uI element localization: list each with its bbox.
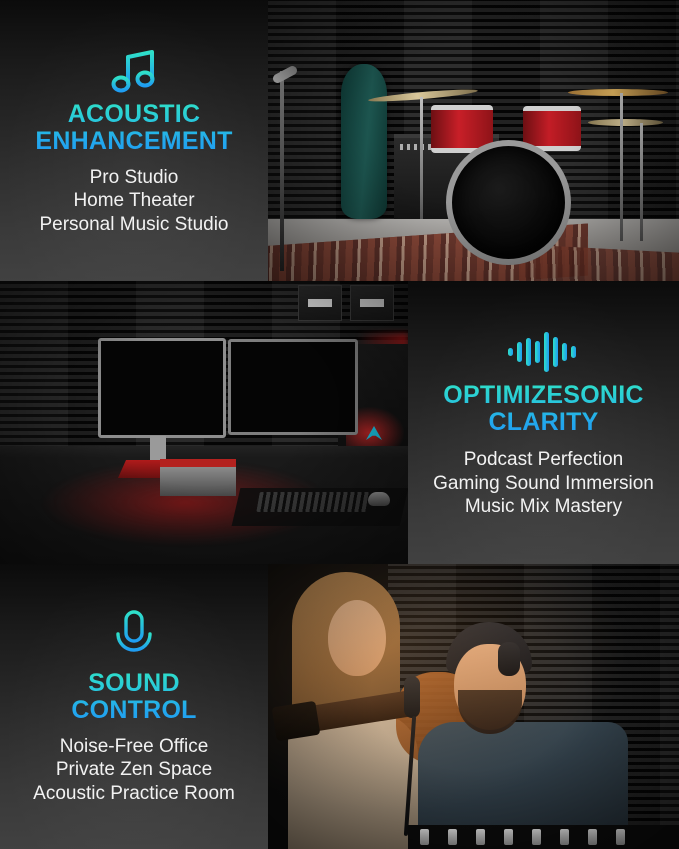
panel-title-line-2: ENHANCEMENT xyxy=(0,128,268,155)
feature-list-optimizesonic-clarity: Podcast Perfection Gaming Sound Immersio… xyxy=(408,448,679,519)
microphone-icon xyxy=(112,610,156,664)
feature-row-acoustic-enhancement: ACOUSTIC ENHANCEMENT Pro Studio Home The… xyxy=(0,0,679,281)
panel-title-acoustic-enhancement: ACOUSTIC ENHANCEMENT xyxy=(0,101,268,155)
feature-item: Podcast Perfection xyxy=(408,448,679,472)
musicians-recording-photo xyxy=(268,564,679,849)
feature-item: Private Zen Space xyxy=(0,758,268,782)
music-note-icon-wrap xyxy=(0,45,268,95)
panel-title-line-1: ACOUSTIC xyxy=(0,101,268,128)
feature-item: Pro Studio xyxy=(0,166,268,190)
feature-row-optimizesonic-clarity: OPTIMIZESONIC CLARITY Podcast Perfection… xyxy=(0,281,679,564)
microphone-icon-wrap xyxy=(0,608,268,664)
photo-vignette xyxy=(0,281,408,564)
feature-item: Home Theater xyxy=(0,189,268,213)
panel-title-line-2: CLARITY xyxy=(408,409,679,436)
text-panel-sound-control: SOUND CONTROL Noise-Free Office Private … xyxy=(0,564,268,849)
panel-title-line-2: CONTROL xyxy=(0,697,268,724)
feature-item: Gaming Sound Immersion xyxy=(408,472,679,496)
panel-title-sound-control: SOUND CONTROL xyxy=(0,670,268,724)
drum-kit-studio-photo xyxy=(268,0,679,281)
feature-item: Personal Music Studio xyxy=(0,213,268,237)
feature-item: Music Mix Mastery xyxy=(408,495,679,519)
sound-wave-icon-wrap xyxy=(408,326,679,372)
music-note-icon xyxy=(108,49,160,95)
sound-wave-icon xyxy=(507,332,581,372)
feature-list-acoustic-enhancement: Pro Studio Home Theater Personal Music S… xyxy=(0,166,268,237)
gaming-desk-setup-photo xyxy=(0,281,408,564)
panel-title-line-1: SOUND xyxy=(0,670,268,697)
panel-title-optimizesonic-clarity: OPTIMIZESONIC CLARITY xyxy=(408,382,679,436)
feature-item: Acoustic Practice Room xyxy=(0,782,268,806)
product-feature-board: ACOUSTIC ENHANCEMENT Pro Studio Home The… xyxy=(0,0,679,849)
text-panel-optimizesonic-clarity: OPTIMIZESONIC CLARITY Podcast Perfection… xyxy=(408,281,679,564)
feature-list-sound-control: Noise-Free Office Private Zen Space Acou… xyxy=(0,735,268,806)
text-panel-acoustic-enhancement: ACOUSTIC ENHANCEMENT Pro Studio Home The… xyxy=(0,0,268,281)
photo-vignette xyxy=(268,0,679,281)
feature-item: Noise-Free Office xyxy=(0,735,268,759)
photo-vignette xyxy=(268,564,679,849)
panel-title-line-1: OPTIMIZESONIC xyxy=(408,382,679,409)
feature-row-sound-control: SOUND CONTROL Noise-Free Office Private … xyxy=(0,564,679,849)
